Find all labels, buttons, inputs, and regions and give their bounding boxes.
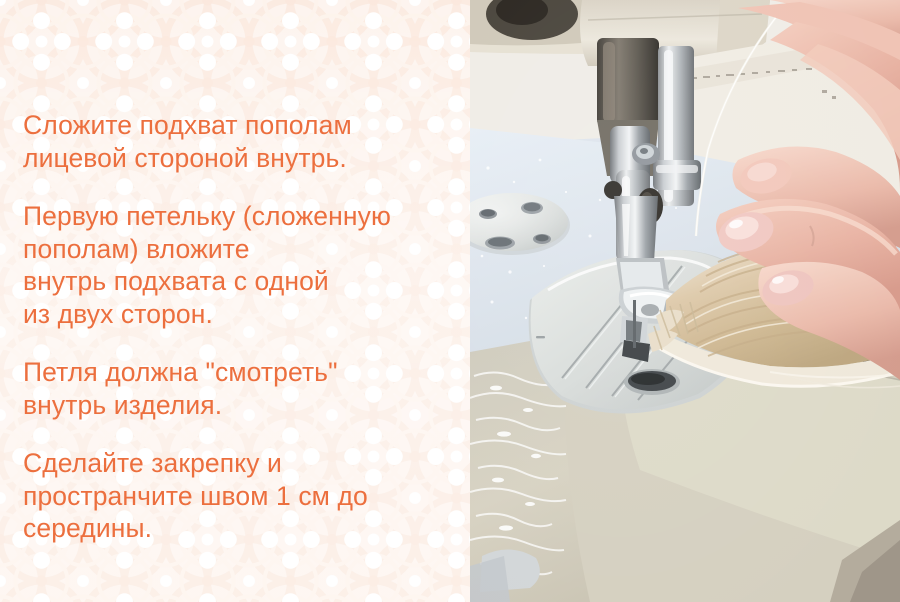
instruction-paragraph-2: Первую петельку (сложенную пополам) влож… xyxy=(23,200,448,330)
instruction-paragraph-4: Сделайте закрепку и пространчите швом 1 … xyxy=(23,447,448,545)
instruction-paragraph-1: Сложите подхват пополам лицевой стороной… xyxy=(23,109,448,174)
sewing-machine-photo xyxy=(470,0,900,602)
instruction-paragraph-3: Петля должна "смотреть" внутрь изделия. xyxy=(23,356,448,421)
sewing-machine-illustration xyxy=(470,0,900,602)
instruction-text-block: Сложите подхват пополам лицевой стороной… xyxy=(23,109,448,545)
instructional-slide: Сложите подхват пополам лицевой стороной… xyxy=(0,0,900,602)
text-panel: Сложите подхват пополам лицевой стороной… xyxy=(0,0,470,602)
